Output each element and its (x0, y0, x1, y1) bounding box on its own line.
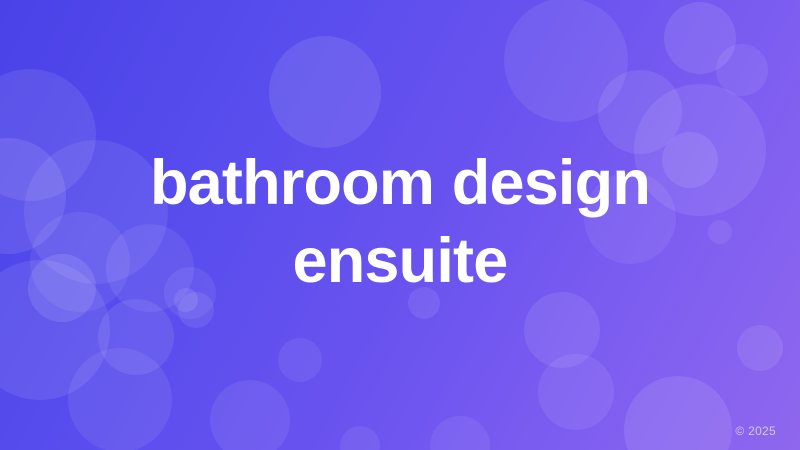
page-title: bathroom design ensuite (60, 144, 740, 300)
copyright-notice: © 2025 (735, 424, 776, 438)
title-block: bathroom design ensuite (0, 0, 800, 450)
hero-banner: bathroom design ensuite © 2025 (0, 0, 800, 450)
